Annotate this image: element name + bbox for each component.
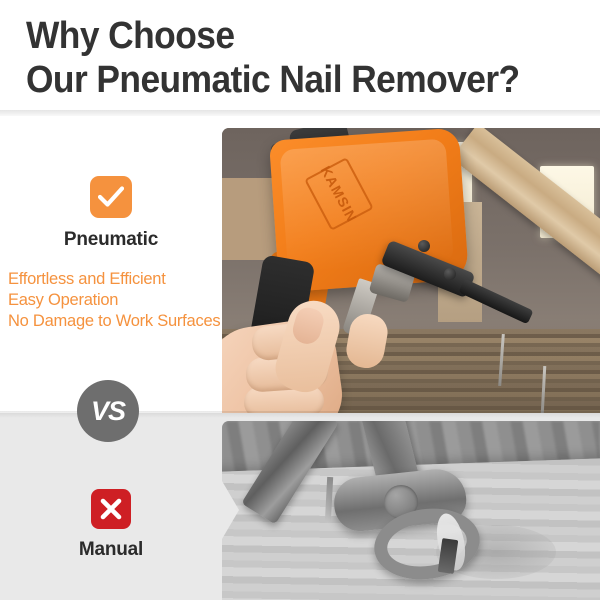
tool-bolt: [418, 240, 430, 252]
vs-badge: VS: [77, 380, 139, 442]
manual-info: Manual: [0, 489, 222, 561]
manual-photo: [222, 421, 600, 600]
header: Why Choose Our Pneumatic Nail Remover?: [0, 0, 600, 116]
background-board: [222, 178, 278, 260]
headline-line-1: Why Choose: [26, 14, 560, 58]
check-icon: [90, 176, 132, 218]
headline-line-2: Our Pneumatic Nail Remover?: [26, 58, 560, 102]
manual-label: Manual: [0, 539, 222, 561]
benefit-item: Effortless and Efficient: [8, 269, 222, 290]
cross-icon: [91, 489, 131, 529]
pneumatic-label: Pneumatic: [0, 229, 222, 251]
benefit-item: No Damage to Work Surfaces: [8, 311, 222, 332]
infographic-page: Why Choose Our Pneumatic Nail Remover? P…: [0, 0, 600, 600]
workshop-scene: KAMSIN: [222, 128, 600, 415]
manual-tool-scene: [222, 421, 600, 600]
tool-bolt: [444, 268, 456, 280]
pneumatic-benefit-list: Effortless and Efficient Easy Operation …: [0, 269, 222, 332]
pneumatic-info: Pneumatic Effortless and Efficient Easy …: [0, 176, 222, 332]
pneumatic-photo: KAMSIN: [222, 128, 600, 415]
benefit-item: Easy Operation: [8, 290, 222, 311]
